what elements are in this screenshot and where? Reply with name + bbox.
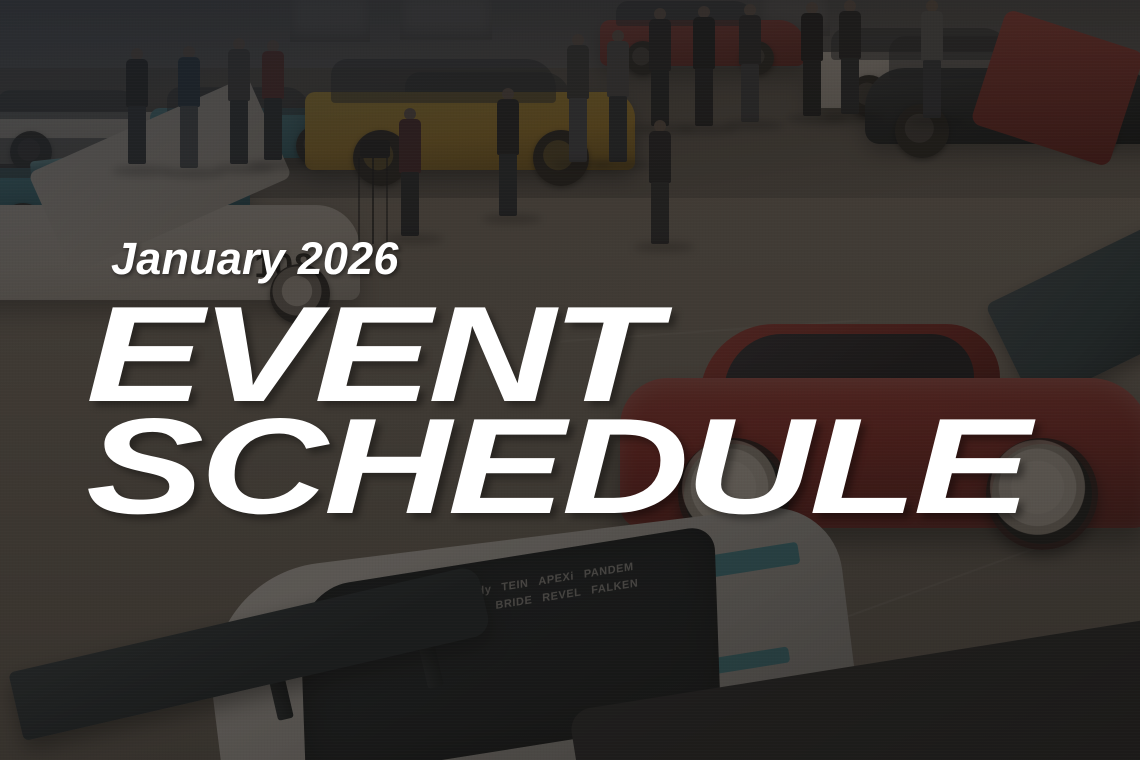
eyebrow-date: January 2026 bbox=[86, 236, 1006, 281]
headline-line-2: SCHEDULE bbox=[86, 413, 1140, 519]
event-schedule-banner: 108 bbox=[0, 0, 1140, 760]
headline-block: January 2026 EVENT SCHEDULE bbox=[86, 236, 1006, 519]
